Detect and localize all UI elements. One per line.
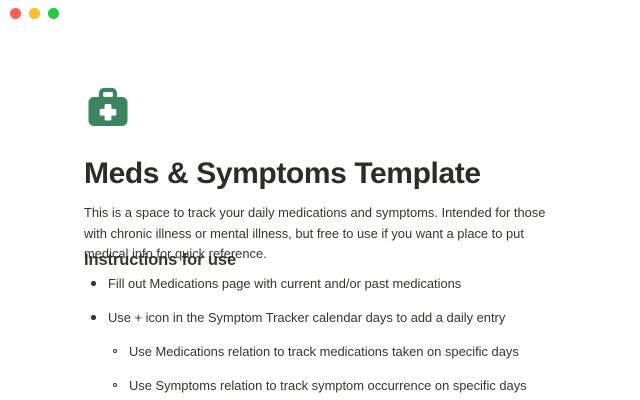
bullet-circle-icon [112, 341, 129, 362]
maximize-button[interactable] [48, 8, 59, 19]
list-item[interactable]: Use Symptoms relation to track symptom o… [84, 375, 576, 396]
list-item[interactable]: Use Medications relation to track medica… [84, 341, 576, 362]
minimize-button[interactable] [29, 8, 40, 19]
bullet-disc-icon [91, 273, 108, 294]
window-titlebar [0, 0, 640, 26]
list-item[interactable]: Fill out Medications page with current a… [84, 273, 576, 294]
first-aid-bag-icon[interactable] [84, 84, 132, 132]
bullet-circle-icon [112, 375, 129, 396]
page-title: Meds & Symptoms Template [84, 155, 481, 193]
instruction-list: Fill out Medications page with current a… [84, 273, 576, 400]
list-item-label: Use + icon in the Symptom Tracker calend… [108, 307, 505, 328]
app-window: Meds & Symptoms Template This is a space… [0, 0, 640, 400]
list-item-label: Use Symptoms relation to track symptom o… [129, 375, 527, 396]
list-item-label: Use Medications relation to track medica… [129, 341, 519, 362]
bullet-disc-icon [91, 307, 108, 328]
section-heading: Instructions for use [84, 249, 236, 271]
list-item-label: Fill out Medications page with current a… [108, 273, 461, 294]
list-item[interactable]: Use + icon in the Symptom Tracker calend… [84, 307, 576, 328]
window-controls [0, 8, 59, 19]
close-button[interactable] [10, 8, 21, 19]
page-content: Meds & Symptoms Template This is a space… [0, 26, 640, 400]
